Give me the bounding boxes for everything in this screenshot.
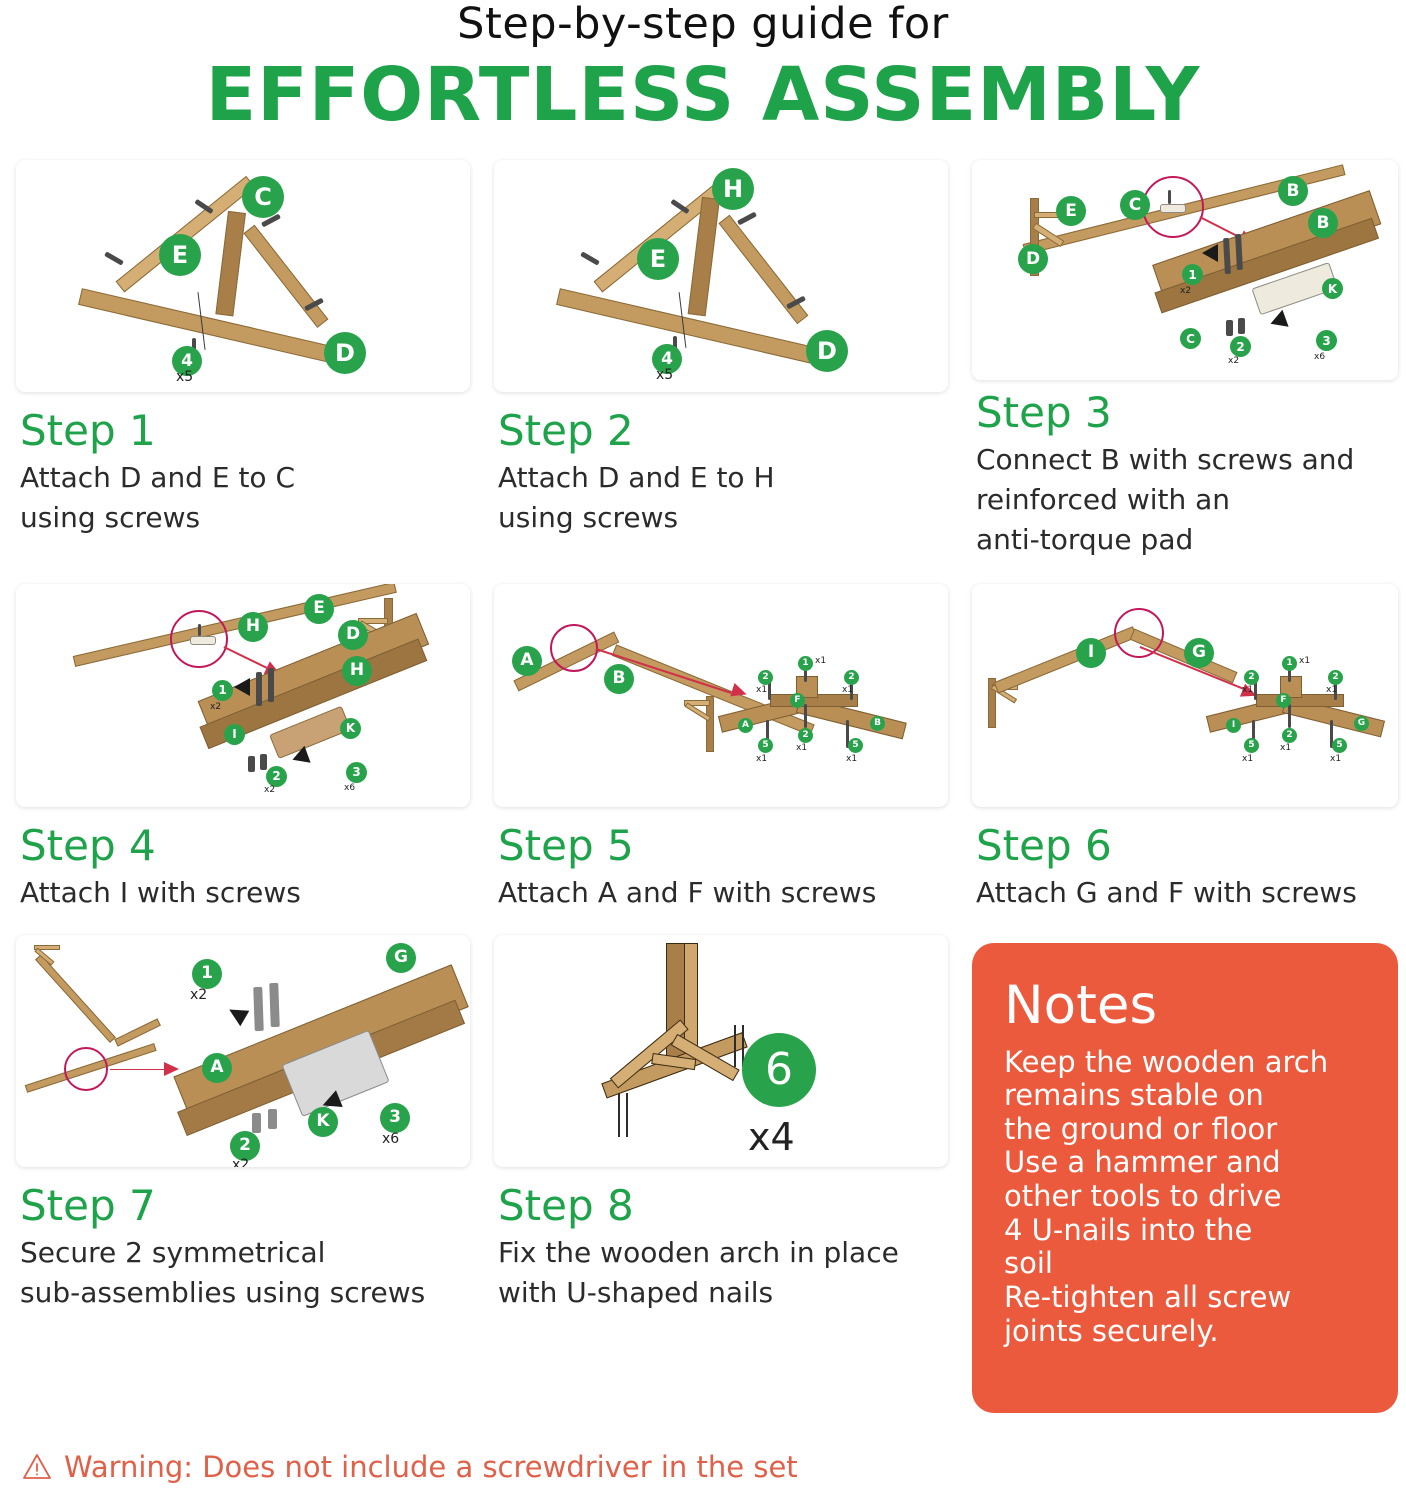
step-5-illustration-panel: A B 1 x1 2 x1 2 x1 F 2 x1 A B 5 x1 5 x1	[494, 584, 948, 807]
qty-label-5-left: x1	[1242, 754, 1253, 764]
badge-hardware-5-right: 5	[848, 738, 863, 753]
beam-joint-diagram-step7: 1 x2 G A K 2 x2 3 x6	[16, 935, 470, 1167]
arch-diagram-step6: I G 1 x1 2 x1 2 x1 F 2 x1 I G 5 x1 5 x1	[972, 584, 1398, 807]
u-nail-icon	[626, 1093, 628, 1137]
step-6-description: Attach G and F with screws	[976, 873, 1398, 913]
arch-base-diagram-step8: 6 x4	[494, 935, 948, 1167]
screw-icon	[1168, 190, 1171, 204]
badge-part-h: H	[712, 168, 754, 210]
badge-hardware-2-left: 2	[1244, 670, 1259, 685]
badge-part-i: I	[224, 724, 245, 745]
beam-post-c	[215, 211, 246, 316]
step-3-illustration-panel: E C B D B 1 x2 K C 2 x2 3 x6	[972, 160, 1398, 380]
beam-strut-d	[243, 225, 328, 328]
qty-label-2: x2	[232, 1157, 249, 1167]
badge-hardware-1: 1	[1282, 656, 1297, 671]
badge-hardware-2-center: 2	[798, 728, 813, 743]
screw-icon	[737, 212, 757, 226]
pointer-arrow	[289, 745, 310, 767]
badge-part-k: K	[1322, 278, 1343, 299]
screw-icon	[580, 252, 600, 266]
arch-diagram-step5: A B 1 x1 2 x1 2 x1 F 2 x1 A B 5 x1 5 x1	[494, 584, 948, 807]
badge-hardware-3: 3	[1316, 330, 1337, 351]
step-cell-3: E C B D B 1 x2 K C 2 x2 3 x6 Step 3 Conn…	[972, 160, 1406, 559]
step-4-label: Step 4	[20, 823, 470, 869]
qty-label-5-right: x1	[846, 754, 857, 764]
step-5-description: Attach A and F with screws	[498, 873, 948, 913]
step-cell-8: 6 x4 Step 8 Fix the wooden arch in place…	[494, 913, 972, 1413]
qty-label-1: x1	[1299, 656, 1310, 666]
badge-hardware-2-center: 2	[1282, 728, 1297, 743]
badge-hardware-1: 1	[212, 680, 233, 701]
screw-icon	[1226, 320, 1233, 336]
qty-label-2-right: x1	[1326, 685, 1337, 695]
badge-part-g: G	[1184, 638, 1214, 668]
badge-hardware-1: 1	[192, 959, 222, 989]
badge-hardware-1: 1	[798, 656, 813, 671]
badge-hardware-6: 6	[742, 1033, 816, 1107]
badge-part-b: B	[604, 664, 634, 694]
step-4-description: Attach I with screws	[20, 873, 470, 913]
badge-part-a: A	[512, 646, 542, 676]
badge-part-k: K	[340, 718, 361, 739]
badge-part-b-rail: B	[1278, 176, 1308, 206]
step-cell-4: H E D H 1 x2 I K 2 x2 3 x6 Step 4 Attach…	[16, 560, 494, 913]
badge-part-e: E	[1056, 196, 1086, 226]
warning-bar: Warning: Does not include a screwdriver …	[22, 1450, 798, 1484]
screw-icon	[104, 252, 124, 266]
step-8-description: Fix the wooden arch in place with U-shap…	[498, 1233, 948, 1313]
badge-part-g-detail: G	[1354, 716, 1369, 731]
step-1-label: Step 1	[20, 408, 470, 454]
callout-arrow-head	[164, 1062, 179, 1076]
page-header: Step-by-step guide for EFFORTLESS ASSEMB…	[0, 0, 1406, 138]
badge-part-g: G	[386, 943, 416, 973]
badge-part-d: D	[324, 332, 366, 374]
badge-part-k: K	[308, 1107, 338, 1137]
qty-label-2-center: x1	[1280, 743, 1291, 753]
badge-hardware-2-right: 2	[844, 670, 859, 685]
truss-diagram-step1: C E D 4 x5	[16, 160, 470, 392]
steps-grid: C E D 4 x5 Step 1 Attach D and E to C us…	[0, 138, 1406, 1412]
step-7-label: Step 7	[20, 1183, 470, 1229]
screw-icon	[198, 624, 201, 636]
badge-part-c: C	[242, 176, 284, 218]
badge-hardware-5-left: 5	[758, 738, 773, 753]
badge-hardware-5-left: 5	[1244, 738, 1259, 753]
badge-part-a-detail: A	[738, 718, 753, 733]
step-6-illustration-panel: I G 1 x1 2 x1 2 x1 F 2 x1 I G 5 x1 5 x1	[972, 584, 1398, 807]
beam-bottom-chord	[556, 288, 815, 364]
badge-part-e: E	[637, 238, 679, 280]
qty-label-2-right: x1	[842, 685, 853, 695]
qty-label-2: x2	[264, 785, 275, 795]
qty-label-1: x2	[210, 702, 221, 712]
anti-torque-pad	[1160, 204, 1186, 213]
step-2-description: Attach D and E to H using screws	[498, 458, 948, 538]
callout-arrow-line	[224, 646, 268, 668]
step-7-illustration-panel: 1 x2 G A K 2 x2 3 x6	[16, 935, 470, 1167]
badge-part-d: D	[338, 620, 368, 650]
header-subtitle: Step-by-step guide for	[0, 2, 1406, 47]
badge-hardware-2: 2	[266, 766, 287, 787]
qty-label-2-center: x1	[796, 743, 807, 753]
badge-hardware-3: 3	[346, 762, 367, 783]
notes-panel: Notes Keep the wooden arch remains stabl…	[972, 943, 1398, 1413]
qty-label: x5	[176, 369, 193, 385]
step-8-label: Step 8	[498, 1183, 948, 1229]
step-3-description: Connect B with screws and reinforced wit…	[976, 440, 1398, 559]
qty-label-3: x6	[344, 783, 355, 793]
badge-hardware-2: 2	[1230, 336, 1251, 357]
notes-cell: Notes Keep the wooden arch remains stabl…	[972, 913, 1406, 1413]
step-8-illustration-panel: 6 x4	[494, 935, 948, 1167]
badge-hardware-2-right: 2	[1328, 670, 1343, 685]
screw-icon	[268, 668, 274, 702]
truss-diagram-step2: H E D 4 x5	[494, 160, 948, 392]
badge-part-i-detail: I	[1226, 718, 1241, 733]
qty-label-1: x2	[190, 987, 207, 1003]
screw-icon	[1238, 318, 1245, 334]
badge-part-e: E	[304, 594, 334, 624]
qty-label-5-right: x1	[1330, 754, 1341, 764]
beam-arm-upper	[35, 954, 116, 1043]
step-7-description: Secure 2 symmetrical sub-assemblies usin…	[20, 1233, 470, 1313]
step-cell-2: H E D 4 x5 Step 2 Attach D and E to H us…	[494, 160, 972, 559]
badge-hardware-5-right: 5	[1332, 738, 1347, 753]
badge-part-d: D	[806, 330, 848, 372]
badge-part-b-detail: B	[870, 716, 885, 731]
screw-icon	[1288, 704, 1291, 728]
step-6-label: Step 6	[976, 823, 1398, 869]
badge-hardware-2-left: 2	[758, 670, 773, 685]
qty-label-3: x6	[1314, 352, 1325, 362]
qty-label-6: x4	[748, 1115, 795, 1159]
screw-icon	[260, 754, 267, 770]
anti-torque-pad	[190, 636, 216, 645]
pointer-arrow	[234, 678, 250, 696]
badge-part-h-rail: H	[238, 612, 268, 642]
screw-icon	[269, 982, 280, 1026]
beam-strut-d	[718, 215, 808, 324]
step-2-label: Step 2	[498, 408, 948, 454]
screw-icon	[268, 1109, 277, 1129]
step-cell-7: 1 x2 G A K 2 x2 3 x6 Step 7 Secure 2 sym…	[16, 913, 494, 1413]
qty-label: x5	[656, 367, 673, 383]
badge-part-i: I	[1076, 638, 1106, 668]
badge-part-f: F	[790, 693, 805, 708]
badge-part-h-detail: H	[342, 656, 372, 686]
badge-part-d: D	[1018, 244, 1048, 274]
callout-arrow-line	[110, 1069, 168, 1071]
u-nail-icon	[734, 1025, 736, 1067]
step-cell-6: I G 1 x1 2 x1 2 x1 F 2 x1 I G 5 x1 5 x1 …	[972, 560, 1406, 913]
badge-part-a: A	[202, 1053, 232, 1083]
step-5-label: Step 5	[498, 823, 948, 869]
step-1-description: Attach D and E to C using screws	[20, 458, 470, 538]
highlight-circle	[64, 1047, 108, 1091]
step-3-label: Step 3	[976, 390, 1398, 436]
beam-assembly-diagram-step4: H E D H 1 x2 I K 2 x2 3 x6	[16, 584, 470, 807]
badge-part-e: E	[159, 234, 201, 276]
badge-hardware-3: 3	[380, 1103, 410, 1133]
step-cell-1: C E D 4 x5 Step 1 Attach D and E to C us…	[16, 160, 494, 559]
qty-label-5-left: x1	[756, 754, 767, 764]
notes-body: Keep the wooden arch remains stable on t…	[1004, 1046, 1370, 1349]
notes-title: Notes	[1004, 979, 1370, 1032]
step-cell-5: A B 1 x1 2 x1 2 x1 F 2 x1 A B 5 x1 5 x1 …	[494, 560, 972, 913]
warning-text: Warning: Does not include a screwdriver …	[64, 1450, 798, 1484]
warning-triangle-icon	[22, 1453, 52, 1481]
screw-icon	[248, 756, 255, 772]
pointer-arrow	[1267, 310, 1288, 332]
badge-part-f: F	[1276, 693, 1291, 708]
step-4-illustration-panel: H E D H 1 x2 I K 2 x2 3 x6	[16, 584, 470, 807]
badge-part-c-detail: C	[1180, 328, 1201, 349]
page-title: EFFORTLESS ASSEMBLY	[0, 53, 1406, 138]
screw-icon	[252, 1113, 261, 1133]
screw-icon	[804, 704, 807, 728]
qty-label-1: x1	[815, 656, 826, 666]
screw-icon	[253, 986, 264, 1030]
qty-label-2-left: x1	[1242, 685, 1253, 695]
qty-label-1: x2	[1180, 286, 1191, 296]
u-nail-icon	[618, 1093, 620, 1137]
qty-label-3: x6	[382, 1131, 399, 1147]
qty-label-2: x2	[1228, 356, 1239, 366]
screw-icon	[256, 672, 262, 706]
step-1-illustration-panel: C E D 4 x5	[16, 160, 470, 392]
step-2-illustration-panel: H E D 4 x5	[494, 160, 948, 392]
pointer-arrow	[225, 1001, 250, 1026]
beam-assembly-diagram-step3: E C B D B 1 x2 K C 2 x2 3 x6	[972, 160, 1398, 380]
highlight-circle	[550, 624, 598, 672]
pointer-arrow	[1202, 244, 1218, 262]
highlight-circle	[1114, 608, 1164, 658]
qty-label-2-left: x1	[756, 685, 767, 695]
